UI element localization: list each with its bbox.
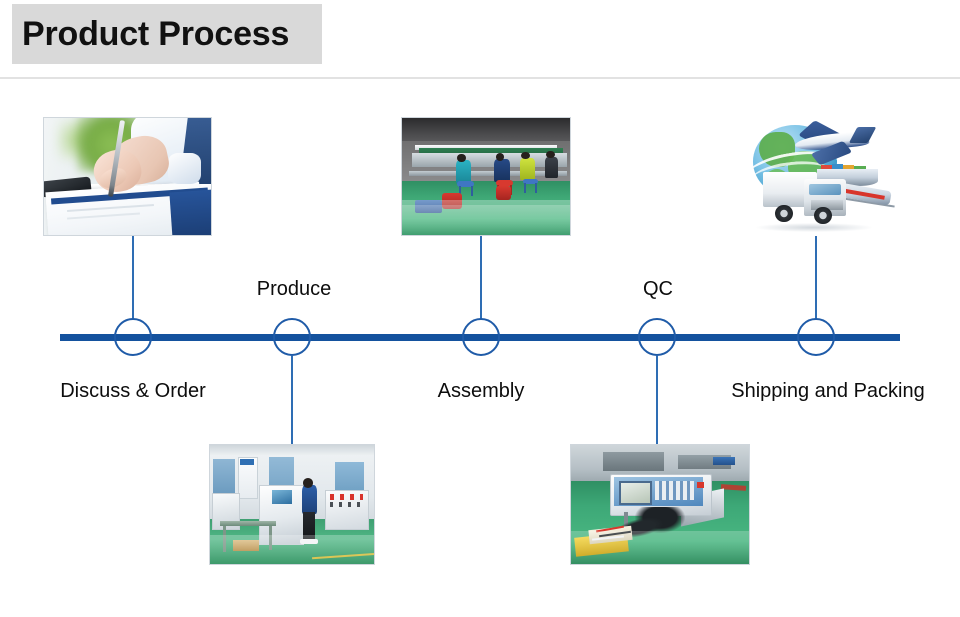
- worker-figure: [494, 159, 509, 182]
- worker-figure: [302, 485, 317, 514]
- step-label-shipping-packing: Shipping and Packing: [731, 380, 924, 403]
- timeline-node-1[interactable]: [114, 318, 152, 356]
- step-label-qc: QC: [643, 278, 673, 301]
- timeline-node-3[interactable]: [462, 318, 500, 356]
- connector-line-4: [656, 356, 658, 444]
- worker-figure: [456, 160, 471, 183]
- worker-figure: [545, 157, 558, 178]
- step-label-assembly: Assembly: [438, 380, 525, 403]
- photo-qc[interactable]: [570, 444, 750, 565]
- connector-line-5: [815, 235, 817, 319]
- page-title: Product Process: [12, 15, 289, 54]
- process-timeline: Discuss & Order Produce Assembly QC Ship…: [0, 79, 960, 617]
- photo-produce[interactable]: [209, 444, 375, 565]
- step-label-discuss-order: Discuss & Order: [60, 380, 206, 403]
- timeline-node-2[interactable]: [273, 318, 311, 356]
- worker-figure: [546, 151, 554, 158]
- page-header: Product Process: [0, 0, 960, 79]
- connector-line-1: [132, 235, 134, 319]
- worker-figure: [520, 158, 535, 180]
- step-label-produce: Produce: [257, 278, 332, 301]
- timeline-node-5[interactable]: [797, 318, 835, 356]
- timeline-node-4[interactable]: [638, 318, 676, 356]
- photo-shipping-packing[interactable]: [739, 117, 902, 236]
- connector-line-3: [480, 235, 482, 319]
- stool: [523, 179, 538, 193]
- worker-figure: [521, 152, 529, 159]
- connector-line-2: [291, 356, 293, 444]
- title-highlight-box: Product Process: [12, 4, 322, 64]
- photo-discuss-order[interactable]: [43, 117, 212, 236]
- photo-assembly[interactable]: [401, 117, 571, 236]
